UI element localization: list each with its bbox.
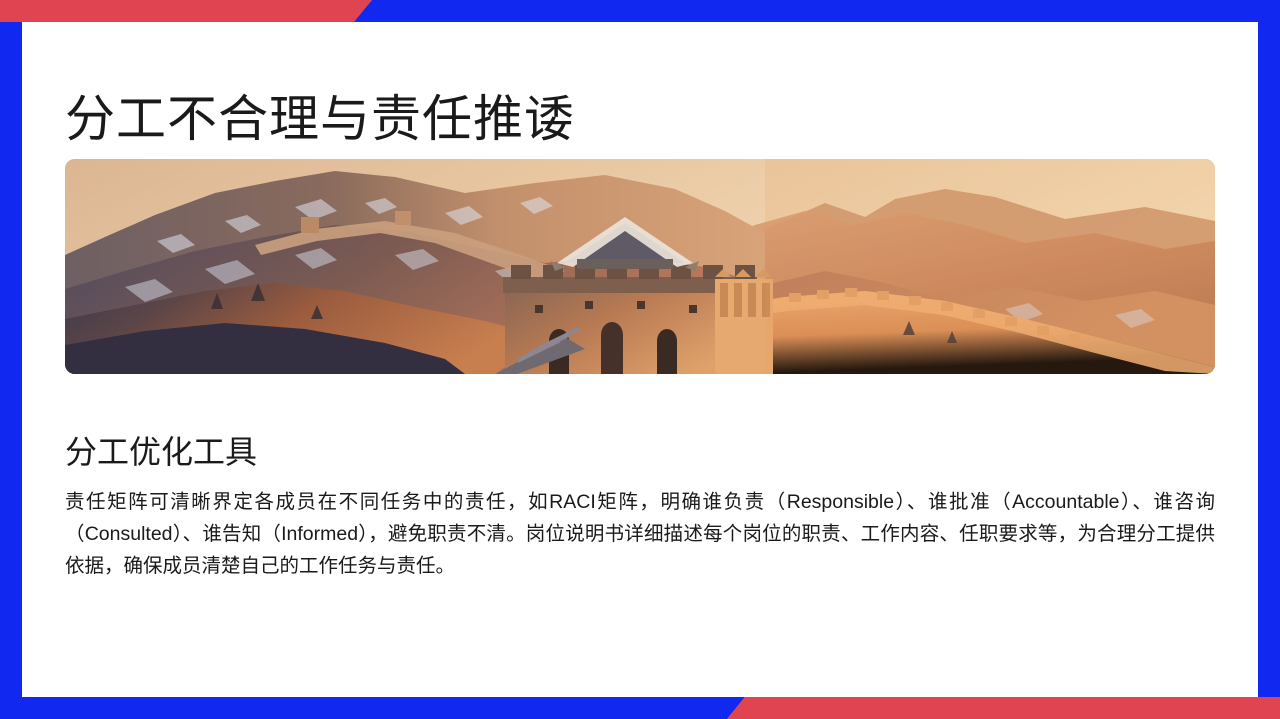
bottom-bar-blue-segment	[0, 697, 745, 719]
bottom-decorative-bar	[0, 697, 1280, 719]
top-bar-blue-segment	[354, 0, 1280, 22]
slide-title: 分工不合理与责任推诿	[65, 91, 575, 149]
body-paragraph: 责任矩阵可清晰界定各成员在不同任务中的责任，如RACI矩阵，明确谁负责（Resp…	[65, 486, 1215, 582]
top-decorative-bar	[0, 0, 1280, 22]
section-subheading: 分工优化工具	[65, 433, 257, 471]
left-border-stripe	[0, 22, 22, 697]
slide-canvas: 分工不合理与责任推诿	[0, 0, 1280, 719]
bottom-bar-red-segment	[727, 697, 1280, 719]
great-wall-illustration	[65, 159, 1215, 374]
slide-content-area: 分工不合理与责任推诿	[23, 23, 1256, 696]
right-border-stripe	[1258, 0, 1280, 697]
hero-image	[65, 159, 1215, 374]
top-bar-red-segment	[0, 0, 372, 22]
